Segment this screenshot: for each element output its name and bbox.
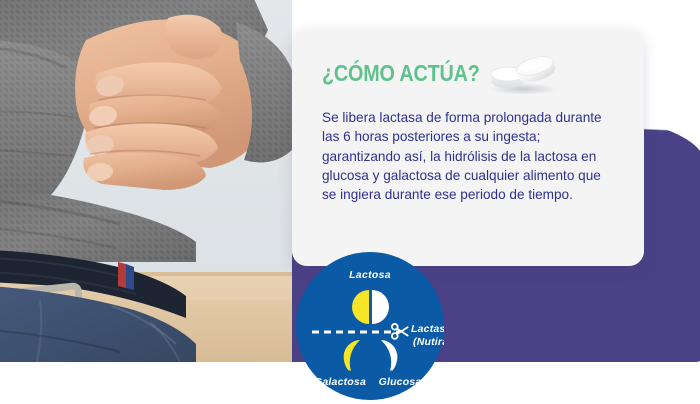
diagram-enzyme-label-line2: (Nutira)	[413, 336, 444, 348]
lactose-molecule	[352, 290, 389, 324]
two-white-tablets-icon	[485, 50, 559, 94]
glucose-half	[381, 340, 397, 372]
diagram-glucose-label: Glucosa	[379, 376, 422, 388]
galactose-half	[344, 340, 360, 372]
diagram-galactose-label: Galactosa	[314, 376, 366, 388]
diagram-lactose-label: Lactosa	[349, 269, 391, 281]
diagram-enzyme-label-line1: Lactasa	[411, 323, 444, 335]
card-header-row: ¿CÓMO ACTÚA?	[322, 58, 616, 94]
scissors-icon	[392, 324, 408, 339]
abdominal-pain-photo	[0, 0, 292, 362]
lactose-hydrolysis-diagram: Lactosa Lactasa (Nutira)	[296, 252, 444, 400]
card-body-text: Se libera lactasa de forma prolongada du…	[322, 108, 616, 204]
promo-banner: ¿CÓMO ACTÚA?	[0, 0, 700, 404]
info-card: ¿CÓMO ACTÚA?	[292, 30, 644, 266]
page-title: ¿CÓMO ACTÚA?	[322, 58, 480, 85]
